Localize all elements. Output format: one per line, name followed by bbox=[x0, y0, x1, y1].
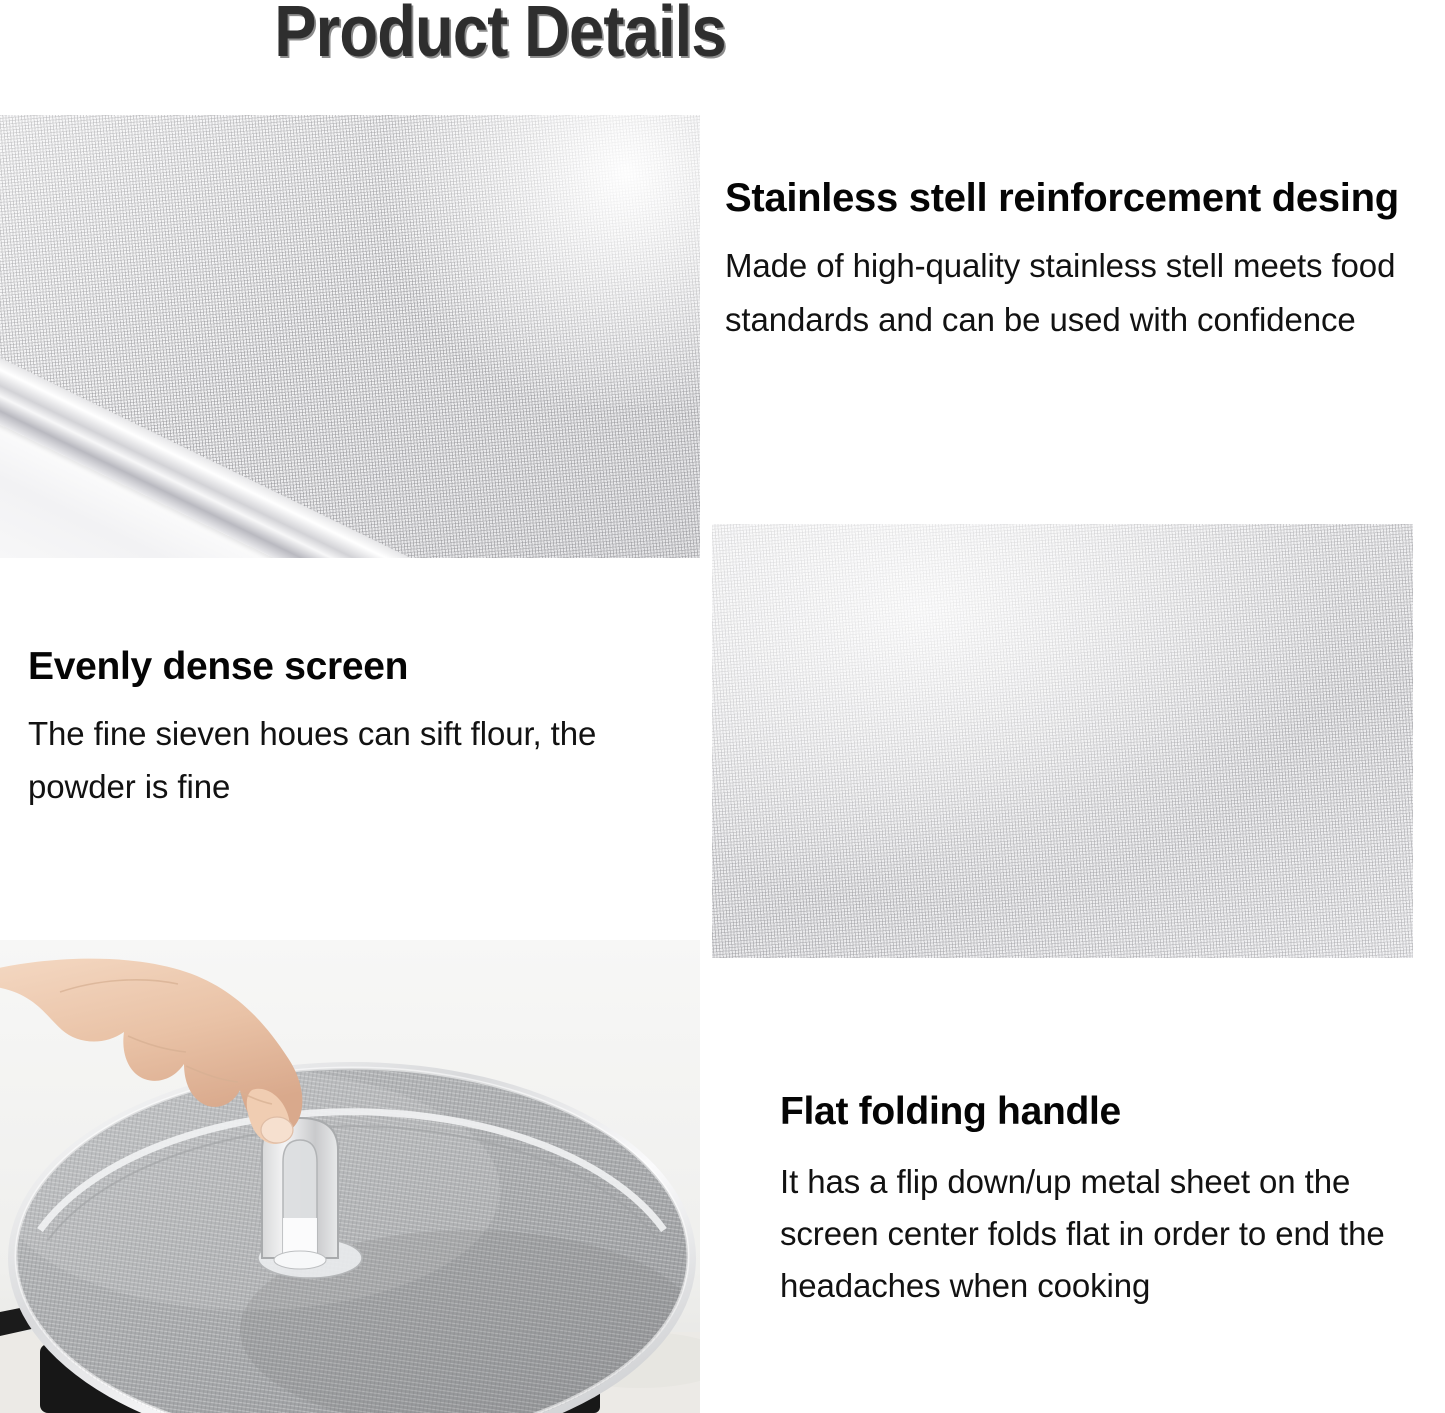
section-heading: Evenly dense screen bbox=[28, 645, 688, 689]
section-body: Made of high-quality stainless stell mee… bbox=[725, 239, 1445, 346]
image-panel-rim bbox=[0, 115, 700, 558]
section-evenly-dense-screen: Evenly dense screen The fine sieven houe… bbox=[28, 645, 688, 814]
section-flat-folding-handle: Flat folding handle It has a flip down/u… bbox=[780, 1090, 1445, 1312]
section-body: The fine sieven houes can sift flour, th… bbox=[28, 707, 688, 814]
section-body: It has a flip down/up metal sheet on the… bbox=[780, 1156, 1445, 1312]
section-heading: Stainless stell reinforcement desing bbox=[725, 176, 1445, 221]
image-panel-mesh bbox=[712, 524, 1413, 958]
page-title: Product Details bbox=[60, 0, 940, 68]
mesh-shading bbox=[712, 524, 1413, 958]
hand-wok-illustration bbox=[0, 940, 700, 1413]
title-bar: Product Details bbox=[0, 0, 1445, 100]
highlight-glow bbox=[360, 115, 700, 405]
section-heading: Flat folding handle bbox=[780, 1090, 1445, 1134]
section-stainless-steel: Stainless stell reinforcement desing Mad… bbox=[725, 176, 1445, 346]
image-panel-hand-wok bbox=[0, 940, 700, 1413]
